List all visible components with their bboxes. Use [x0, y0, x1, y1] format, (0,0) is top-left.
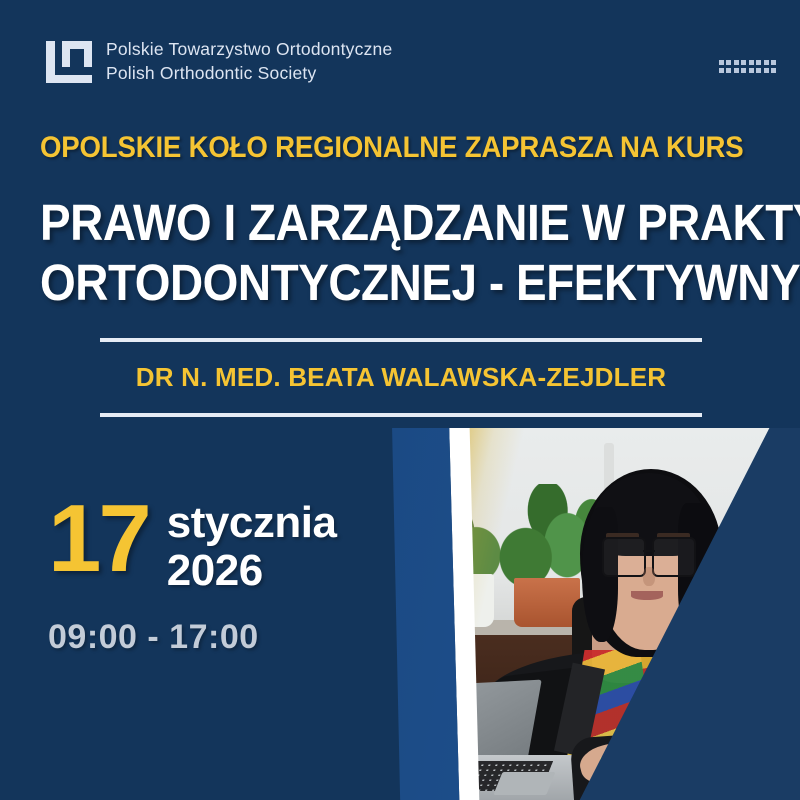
dot-grid-decoration-icon — [719, 60, 777, 73]
speaker-name: DR N. MED. BEATA WALAWSKA-ZEJDLER — [100, 342, 702, 413]
org-name-en: Polish Orthodontic Society — [106, 62, 392, 85]
org-name-pl: Polskie Towarzystwo Ortodontyczne — [106, 38, 392, 61]
course-title-line-1: PRAWO I ZARZĄDZANIE W PRAKTYCE — [40, 193, 706, 253]
event-time: 09:00 - 17:00 — [48, 618, 348, 657]
date-row: 17 stycznia 2026 — [48, 495, 348, 594]
photo-top-edge — [392, 424, 800, 428]
course-title-line-2: ORTODONTYCZNEJ - EFEKTYWNY GABINET — [40, 253, 706, 313]
kicker-text: OPOLSKIE KOŁO REGIONALNE ZAPRASZA NA KUR… — [40, 131, 743, 165]
date-block: 17 stycznia 2026 09:00 - 17:00 — [48, 495, 348, 657]
date-month: stycznia — [167, 499, 337, 547]
date-day: 17 — [48, 495, 149, 583]
speaker-block: DR N. MED. BEATA WALAWSKA-ZEJDLER — [100, 338, 702, 417]
organisation-name: Polskie Towarzystwo Ortodontyczne Polish… — [106, 38, 392, 86]
divider-bottom — [100, 413, 702, 417]
date-month-year: stycznia 2026 — [167, 495, 337, 594]
pts-square-logo-mark-icon — [46, 39, 92, 85]
date-year: 2026 — [167, 547, 337, 595]
organisation-header: Polskie Towarzystwo Ortodontyczne Polish… — [46, 38, 392, 86]
event-poster: Polskie Towarzystwo Ortodontyczne Polish… — [0, 0, 800, 800]
course-title: PRAWO I ZARZĄDZANIE W PRAKTYCE ORTODONTY… — [40, 193, 780, 312]
